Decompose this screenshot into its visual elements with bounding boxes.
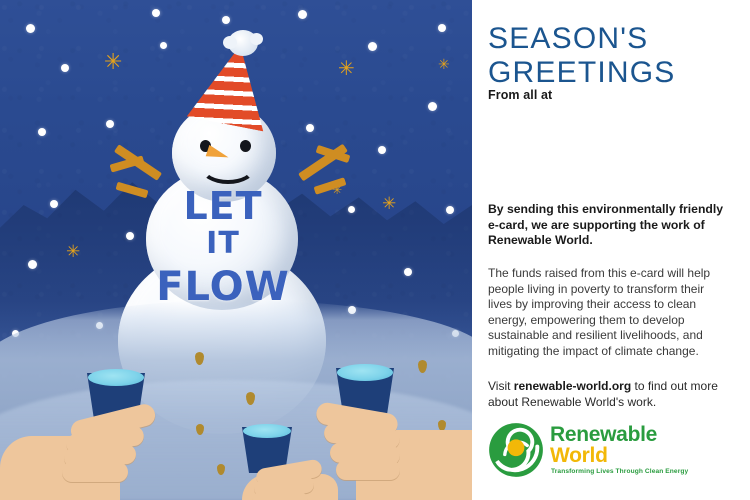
star-icon: ✳	[104, 52, 122, 74]
visit-paragraph: Visit renewable-world.org to find out mo…	[488, 379, 728, 410]
renewable-world-swirl-icon	[488, 422, 544, 478]
snowflake-dot	[446, 206, 454, 214]
snowflake-dot	[61, 64, 69, 72]
snowflake-dot	[404, 268, 412, 276]
snowflake-dot	[298, 10, 307, 19]
star-icon: ✳	[438, 58, 450, 72]
snowflake-dot	[306, 124, 314, 132]
visit-prefix: Visit	[488, 379, 514, 393]
body-paragraph: The funds raised from this e-card will h…	[488, 266, 726, 360]
winter-illustration: ✳ ✳ ✳ ✳ ✳ ✳ LET IT FLOW	[0, 0, 472, 500]
snowflake-dot	[222, 16, 230, 24]
star-icon: ✳	[338, 58, 355, 78]
finger	[62, 462, 128, 482]
star-icon: ✳	[382, 196, 396, 213]
snowflake-dot	[26, 24, 35, 33]
headline-line-2: GREETINGS	[488, 56, 676, 90]
website-link[interactable]: renewable-world.org	[514, 379, 631, 393]
snowflake-dot	[38, 128, 46, 136]
lead-paragraph: By sending this environmentally friendly…	[488, 202, 728, 249]
snowflake-dot	[152, 9, 160, 17]
headline-line-1: SEASON'S	[488, 22, 676, 56]
cup-water	[243, 424, 291, 438]
snowflake-dot	[428, 102, 437, 111]
star-icon: ✳	[66, 244, 80, 261]
finger	[252, 492, 308, 500]
message-line-2: IT	[118, 226, 328, 262]
page-title: SEASON'S GREETINGS	[488, 22, 676, 90]
snowflake-dot	[438, 24, 446, 32]
message-line-1: LET	[118, 186, 328, 226]
snowflake-dot	[368, 42, 377, 51]
logo-word-world: World	[550, 445, 657, 466]
cup-water	[88, 369, 144, 386]
from-all-at-label: From all at	[488, 88, 552, 102]
logo-tagline: Transforming Lives Through Clean Energy	[551, 468, 688, 475]
snowflake-dot	[378, 146, 386, 154]
logo-wordmark: Renewable World	[550, 424, 657, 466]
renewable-world-logo[interactable]: Renewable World Transforming Lives Throu…	[488, 422, 708, 482]
e-card: ✳ ✳ ✳ ✳ ✳ ✳ LET IT FLOW	[0, 0, 750, 500]
hand-with-cup-left	[60, 360, 240, 500]
finger	[336, 460, 400, 480]
snowflake-dot	[348, 206, 355, 213]
message-panel: SEASON'S GREETINGS From all at By sendin…	[472, 0, 750, 500]
snowflake-dot	[50, 200, 58, 208]
cup-water	[337, 364, 393, 381]
snowman-mouth	[200, 150, 256, 184]
snowflake-dot	[106, 120, 114, 128]
snowflake-dot	[160, 42, 167, 49]
snowman-message: LET IT FLOW	[118, 186, 328, 310]
logo-word-renewable: Renewable	[550, 424, 657, 445]
snowflake-dot	[28, 260, 37, 269]
hat-pompom	[228, 30, 258, 56]
hand-with-cup-right	[318, 360, 472, 500]
